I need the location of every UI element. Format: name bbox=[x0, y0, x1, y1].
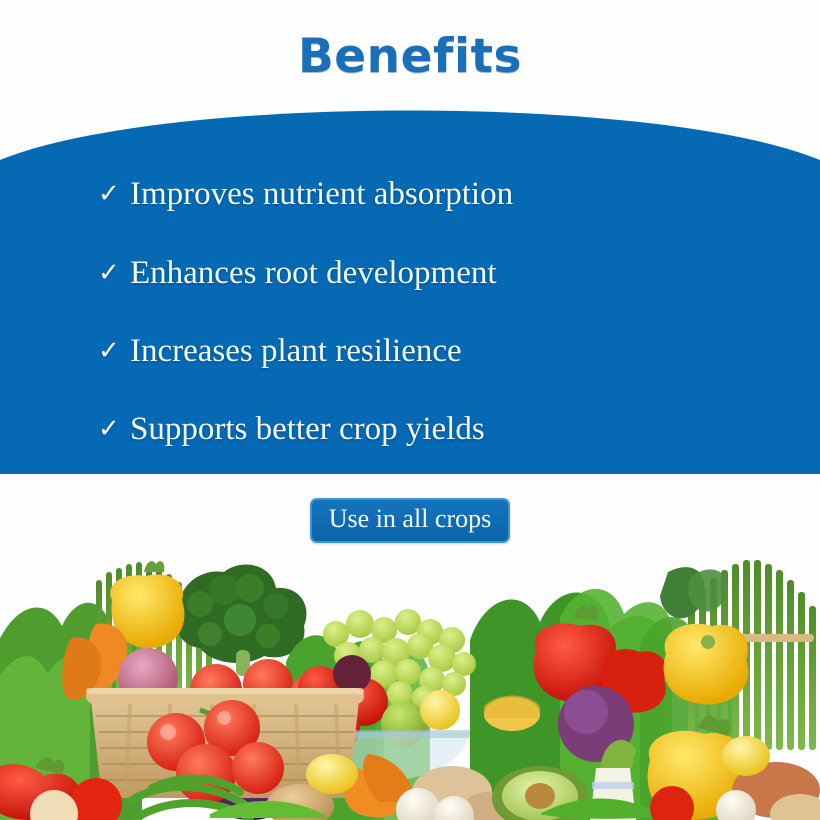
benefits-list: ✓ Improves nutrient absorption ✓ Enhance… bbox=[0, 100, 820, 474]
list-item-label: Enhances root development bbox=[130, 256, 497, 291]
check-icon: ✓ bbox=[98, 181, 130, 207]
badge-area: Use in all crops bbox=[0, 498, 820, 543]
lemon bbox=[306, 754, 358, 794]
check-icon: ✓ bbox=[98, 416, 130, 442]
check-icon: ✓ bbox=[98, 260, 130, 286]
list-item-label: Supports better crop yields bbox=[130, 412, 485, 447]
page-title: Benefits bbox=[298, 29, 522, 84]
list-item-label: Improves nutrient absorption bbox=[130, 177, 513, 212]
lemon-right bbox=[722, 736, 770, 776]
yellow-fruit bbox=[420, 690, 460, 730]
list-item: ✓ Enhances root development bbox=[98, 256, 497, 291]
list-item: ✓ Increases plant resilience bbox=[98, 334, 462, 369]
list-item: ✓ Supports better crop yields bbox=[98, 412, 485, 447]
dark-plum bbox=[333, 655, 371, 693]
corn bbox=[484, 696, 540, 732]
yellow-pepper-right bbox=[664, 624, 749, 705]
produce-photo bbox=[0, 542, 820, 820]
status-badge: Use in all crops bbox=[310, 498, 510, 543]
check-icon: ✓ bbox=[98, 338, 130, 364]
list-item: ✓ Improves nutrient absorption bbox=[98, 177, 513, 212]
list-item-label: Increases plant resilience bbox=[130, 334, 462, 369]
benefits-infographic: Benefits ✓ Improves nutrient absorption … bbox=[0, 0, 820, 820]
purple-cabbage-highlight bbox=[564, 690, 608, 734]
page-title-area: Benefits bbox=[0, 0, 820, 112]
